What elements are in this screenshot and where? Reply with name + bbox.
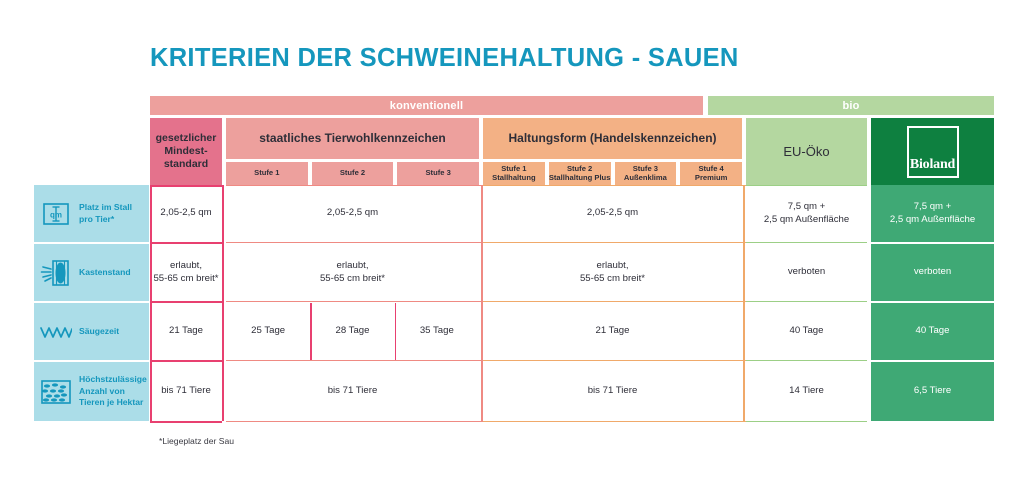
grid-rule — [226, 421, 483, 422]
grid-rule — [483, 185, 746, 186]
page-title: KRITERIEN DER SCHWEINEHALTUNG - SAUEN — [150, 44, 739, 73]
header-label: gesetzlicher Mindest- standard — [156, 132, 217, 170]
suckling-icon — [40, 318, 72, 346]
header-sub-haltungsform-1[interactable]: Stufe 1Stallhaltung — [483, 162, 545, 185]
cell-haltungsform-row4: bis 71 Tiere — [483, 362, 742, 421]
cell-haltungsform-row3: 21 Tage — [483, 303, 742, 360]
area-per-animal-icon: qm — [40, 200, 72, 228]
cell-mindeststandard-row3: 21 Tage — [150, 303, 222, 360]
cell-eu-oeko-row2: verboten — [746, 244, 867, 301]
bioland-logo: Bioland — [907, 126, 959, 178]
animals-per-hectare-icon — [40, 378, 72, 406]
header-label: EU-Öko — [783, 144, 829, 160]
infographic-root: KRITERIEN DER SCHWEINEHALTUNG - SAUEN ko… — [0, 0, 1024, 500]
cell-eu-oeko-row4: 14 Tiere — [746, 362, 867, 421]
criteria-row-label-1[interactable]: qmPlatz im Stall pro Tier* — [34, 185, 149, 242]
grid-rule — [150, 185, 152, 421]
band-bio: bio — [708, 96, 994, 115]
header-sub-tierwohl-3[interactable]: Stufe 3 — [397, 162, 479, 185]
cell-tierwohl-stufe1-row3: 25 Tage — [226, 303, 310, 360]
svg-text:qm: qm — [50, 210, 62, 219]
header-sub-haltungsform-4[interactable]: Stufe 4Premium — [680, 162, 742, 185]
criteria-row-label-4[interactable]: Höchstzulässige Anzahl von Tieren je Hek… — [34, 362, 149, 421]
grid-rule — [395, 303, 397, 360]
sub-label-line1: Stufe 2 — [340, 169, 365, 178]
grid-rule — [226, 185, 483, 186]
grid-rule — [150, 185, 222, 187]
footnote: *Liegeplatz der Sau — [159, 436, 234, 446]
header-label: staatliches Tierwohlkennzeichen — [259, 131, 446, 146]
bioland-logo-label: Bioland — [910, 156, 955, 173]
grid-rule — [746, 421, 867, 422]
criteria-label-text: Kastenstand — [79, 267, 131, 278]
grid-rule — [481, 185, 483, 421]
header-haltungsform: Haltungsform (Handelskennzeichen) — [483, 118, 742, 159]
cell-tierwohl-row4: bis 71 Tiere — [226, 362, 479, 421]
cell-mindeststandard-row2: erlaubt, 55-65 cm breit* — [150, 244, 222, 301]
cell-mindeststandard-row1: 2,05-2,5 qm — [150, 185, 222, 242]
cell-haltungsform-row1: 2,05-2,5 qm — [483, 185, 742, 242]
criteria-row-label-2[interactable]: Kastenstand — [34, 244, 149, 301]
header-sub-tierwohl-2[interactable]: Stufe 2 — [312, 162, 394, 185]
grid-rule — [746, 185, 867, 186]
cell-bioland-row1: 7,5 qm + 2,5 qm Außenfläche — [871, 185, 994, 242]
cell-tierwohl-row1: 2,05-2,5 qm — [226, 185, 479, 242]
sub-label-line1: Stufe 1 — [254, 169, 279, 178]
cell-bioland-row2: verboten — [871, 244, 994, 301]
header-sub-haltungsform-2[interactable]: Stufe 2Stallhaltung Plus — [549, 162, 611, 185]
grid-rule — [310, 303, 312, 360]
sow-crate-icon — [40, 259, 72, 287]
criteria-label-text: Säugezeit — [79, 326, 119, 337]
cell-eu-oeko-row3: 40 Tage — [746, 303, 867, 360]
grid-rule — [150, 421, 222, 423]
cell-haltungsform-row2: erlaubt, 55-65 cm breit* — [483, 244, 742, 301]
sub-label-line2: Außenklima — [624, 174, 667, 183]
sub-label-line2: Stallhaltung Plus — [549, 174, 611, 183]
criteria-row-label-3[interactable]: Säugezeit — [34, 303, 149, 360]
header-label: Haltungsform (Handelskennzeichen) — [508, 131, 716, 146]
header-sub-tierwohl-1[interactable]: Stufe 1 — [226, 162, 308, 185]
grid-rule — [483, 421, 746, 422]
cell-tierwohl-stufe2-row3: 28 Tage — [310, 303, 394, 360]
cell-mindeststandard-row4: bis 71 Tiere — [150, 362, 222, 421]
cell-bioland-row4: 6,5 Tiere — [871, 362, 994, 421]
criteria-label-text: Platz im Stall pro Tier* — [79, 202, 132, 225]
cell-tierwohl-row2: erlaubt, 55-65 cm breit* — [226, 244, 479, 301]
grid-rule — [743, 185, 745, 421]
header-eu-oeko: EU-Öko — [746, 118, 867, 185]
comparison-table: 2,05-2,5 qm2,05-2,5 qm2,05-2,5 qm7,5 qm … — [150, 185, 994, 422]
band-konventionell: konventionell — [150, 96, 703, 115]
sub-label-line2: Premium — [695, 174, 728, 183]
cell-eu-oeko-row1: 7,5 qm + 2,5 qm Außenfläche — [746, 185, 867, 242]
header-bioland: Bioland — [871, 118, 994, 185]
sub-label-line1: Stufe 3 — [425, 169, 450, 178]
grid-rule — [222, 185, 224, 421]
criteria-label-text: Höchstzulässige Anzahl von Tieren je Hek… — [79, 374, 147, 408]
cell-bioland-row3: 40 Tage — [871, 303, 994, 360]
header-gesetzlicher-mindeststandard: gesetzlicher Mindest- standard — [150, 118, 222, 185]
cell-tierwohl-stufe3-row3: 35 Tage — [395, 303, 479, 360]
header-staatliches-tierwohlkennzeichen: staatliches Tierwohlkennzeichen — [226, 118, 479, 159]
sub-label-line2: Stallhaltung — [492, 174, 535, 183]
header-sub-haltungsform-3[interactable]: Stufe 3Außenklima — [615, 162, 677, 185]
